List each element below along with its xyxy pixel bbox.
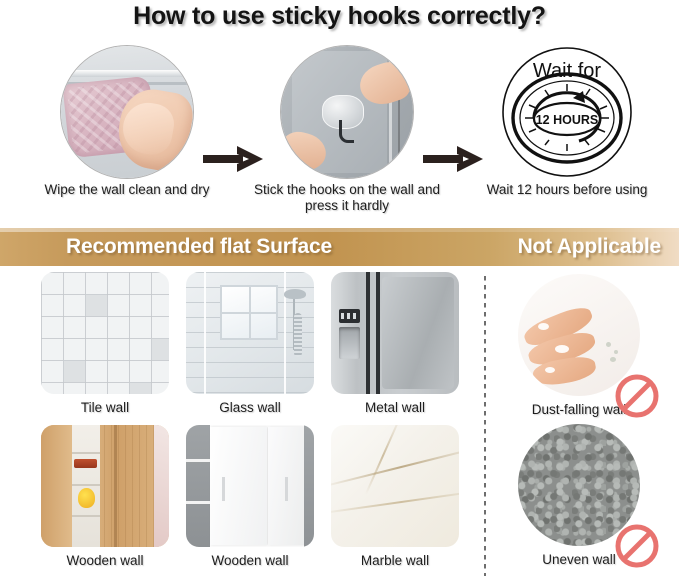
step-2: Stick the hooks on the wall and press it… [281,46,413,178]
door-handle-right [285,477,288,501]
not-applicable-card-dust-falling-wall: Dust-falling wall [506,274,666,417]
surface-card-glass-wall: Glass wall [186,272,314,415]
clock-icon: 12 HOURS Wait for [501,46,633,178]
page-title: How to use sticky hooks correctly? [0,2,679,31]
open-shelf [72,425,100,547]
rubber-duck-toy [78,488,95,508]
wardrobe-side-panel [304,425,314,547]
fridge-door [382,277,454,389]
glass-wall-thumbnail [186,272,314,394]
water-dispenser [339,327,361,359]
metal-wall-thumbnail [331,272,459,394]
step-2-caption: Stick the hooks on the wall and press it… [237,182,457,214]
arrow-right-icon-1 [203,144,265,174]
clock-center-label: 12 HOURS [536,113,599,127]
surface-card-wooden-wall: Wooden wall [41,425,169,568]
white-wooden-wall-thumbnail [186,425,314,547]
marble-vein-2 [331,489,459,514]
steps-section: Wipe the wall clean and dry Stick the ho… [0,46,679,221]
wardrobe-door-left [210,427,266,544]
prohibition-icon-2 [614,523,660,569]
stick-hook-photo [281,46,413,178]
marble-vein-3 [365,425,402,495]
door-handle-left [222,477,225,501]
step-1: Wipe the wall clean and dry [61,46,193,178]
wait-clock-photo: 12 HOURS Wait for [501,46,633,178]
shelf-column-left [186,425,210,547]
clock-illustration: 12 HOURS Wait for [501,46,633,178]
shelf-toy-box [74,459,97,468]
glass-door-edge-left [204,272,206,394]
prohibition-icon-1 [614,373,660,419]
surface-card-metal-wall: Metal wall [331,272,459,415]
marble-wall-thumbnail [331,425,459,547]
tile-wall-thumbnail [41,272,169,394]
step-3: 12 HOURS Wait for Wait 12 hours before u… [501,46,633,178]
not-applicable-card-uneven-wall: Uneven wall [506,424,666,567]
step-1-caption: Wipe the wall clean and dry [17,182,237,198]
hook-icon [339,120,354,143]
clock-top-label: Wait for [533,60,601,82]
wipe-wall-photo [61,46,193,178]
fridge-gap-right [376,272,380,394]
window [222,287,276,338]
surface-label-metal-wall: Metal wall [310,400,480,415]
shower-head-icon [284,289,306,299]
banner-not-applicable-label: Not Applicable [518,235,661,259]
background-wall [154,425,169,547]
section-divider [484,276,486,576]
surface-banner: Recommended flat Surface Not Applicable [0,228,679,266]
arrow-right-icon-2 [423,144,485,174]
surface-label-marble-wall: Marble wall [310,553,480,568]
fridge-control-panel [339,309,361,324]
banner-recommended-label: Recommended flat Surface [66,235,332,259]
wall-rail [61,70,193,77]
step-3-caption: Wait 12 hours before using [457,182,677,198]
wooden-wall-thumbnail [41,425,169,547]
surface-card-white-wooden-wall: Wooden wall [186,425,314,568]
wardrobe-left-door [41,425,72,547]
fridge-gap-left [366,272,370,394]
surface-card-marble-wall: Marble wall [331,425,459,568]
wardrobe-door-seam [114,425,117,547]
surfaces-grid: Tile wall Glass wall Metal wall [0,272,679,582]
shower-hose [294,313,302,357]
marble-vein-1 [331,446,459,488]
surface-card-tile-wall: Tile wall [41,272,169,415]
